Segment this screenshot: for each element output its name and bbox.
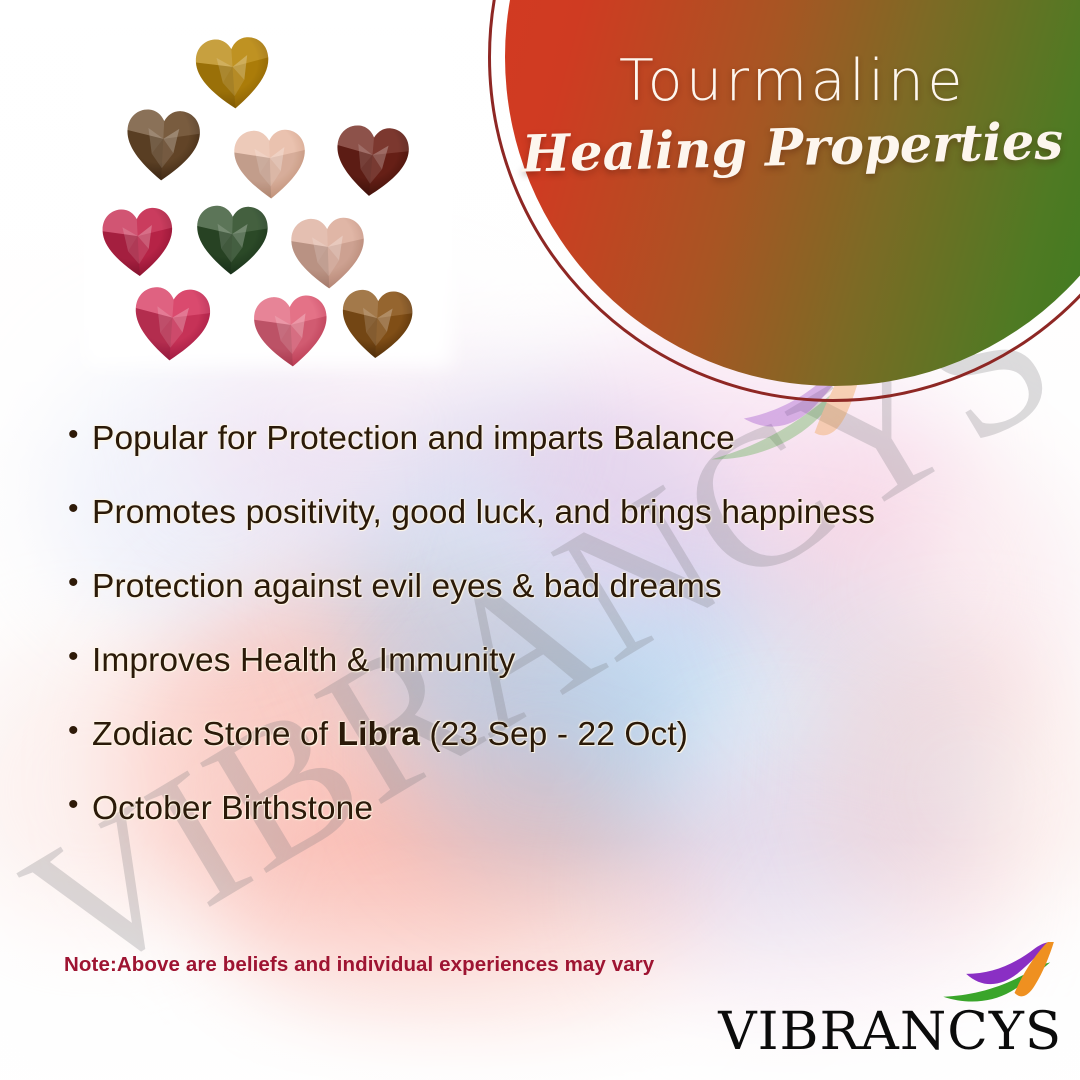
bullet-evil-eyes-label: Protection against evil eyes & bad dream… (92, 552, 962, 622)
gem-dark-green (193, 203, 271, 278)
gem-amber-brown (338, 286, 416, 362)
header-title-block: Tourmaline Healing Properties (520, 52, 1065, 178)
brand-logo[interactable]: VIBRANCYS (725, 942, 1062, 1058)
gem-smoky-brown (122, 106, 204, 184)
gem-hot-pink (129, 283, 214, 364)
bullet-dot-icon: • (62, 700, 92, 762)
gem-blush-rose (288, 215, 369, 292)
bullet-protection-balance: •Popular for Protection and imparts Bala… (62, 404, 962, 474)
bullet-zodiac-libra-label: Zodiac Stone of Libra (23 Sep - 22 Oct) (92, 700, 962, 770)
page-title: Tourmaline (520, 52, 1065, 112)
bullet-health-immunity-label: Improves Health & Immunity (92, 626, 962, 696)
bullet-positivity-label: Promotes positivity, good luck, and brin… (92, 478, 962, 548)
gemstone-cluster-image (84, 36, 464, 376)
bullet-evil-eyes: •Protection against evil eyes & bad drea… (62, 552, 962, 622)
gem-salmon-pink (250, 292, 332, 370)
bullet-health-immunity: •Improves Health & Immunity (62, 626, 962, 696)
gem-dark-red (331, 121, 413, 201)
gem-peach-pale (231, 127, 309, 202)
bullet-protection-balance-label: Popular for Protection and imparts Balan… (92, 404, 962, 474)
bullet-dot-icon: • (62, 404, 92, 466)
bullet-october-birthstone: •October Birthstone (62, 774, 962, 844)
logo-wordmark: VIBRANCYS (718, 1006, 1062, 1058)
gem-crimson-pink (99, 204, 177, 280)
healing-properties-list: •Popular for Protection and imparts Bala… (62, 404, 962, 848)
bullet-positivity: •Promotes positivity, good luck, and bri… (62, 478, 962, 548)
poster-canvas: VIBRANCYS Tourmaline Healing Properties … (0, 0, 1080, 1080)
bullet-dot-icon: • (62, 626, 92, 688)
bullet-dot-icon: • (62, 478, 92, 540)
page-subtitle: Healing Properties (519, 111, 1065, 184)
bullet-zodiac-libra: •Zodiac Stone of Libra (23 Sep - 22 Oct) (62, 700, 962, 770)
bullet-dot-icon: • (62, 774, 92, 836)
bullet-october-birthstone-label: October Birthstone (92, 774, 962, 844)
bullet-dot-icon: • (62, 552, 92, 614)
gem-golden-yellow (192, 33, 275, 112)
disclaimer-note: Note:Above are beliefs and individual ex… (64, 953, 654, 977)
